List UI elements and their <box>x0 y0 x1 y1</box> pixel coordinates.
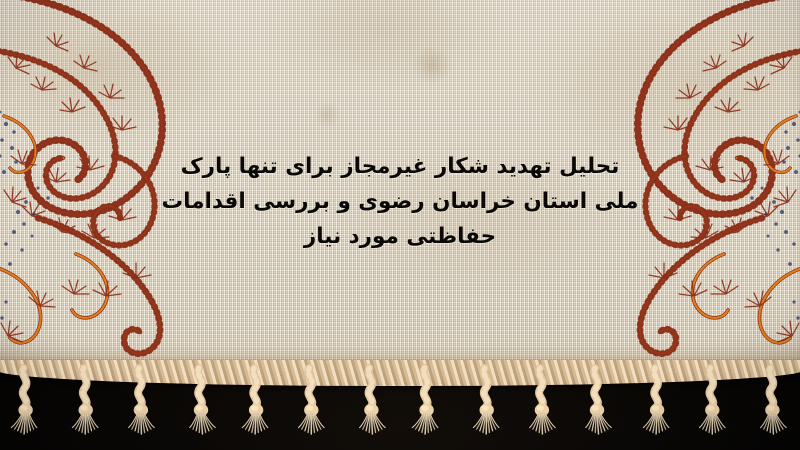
tassel-knot-highlight <box>767 405 774 411</box>
tassel-tuft <box>586 414 612 434</box>
tassel <box>530 368 556 434</box>
tassel-knot-highlight <box>81 405 88 411</box>
tassel-tuft <box>129 414 155 434</box>
tassel-knot-highlight <box>482 405 489 411</box>
tassel <box>643 368 669 434</box>
tassel-tuft <box>761 414 787 434</box>
title-line-1: تحلیل تهدید شکار غیرمجاز برای تنها پارک <box>0 149 800 184</box>
headline-title: تحلیل تهدید شکار غیرمجاز برای تنها پارک … <box>0 149 800 254</box>
tassel-knot-highlight <box>652 405 659 411</box>
tassel-knot-highlight <box>592 405 599 411</box>
tassel <box>761 368 787 434</box>
tassel <box>72 368 98 434</box>
title-line-2: ملی استان خراسان رضوی و بررسی اقدامات <box>0 184 800 219</box>
tassel-tuft <box>643 414 669 434</box>
tassel-tuft <box>299 414 325 434</box>
tassel-tuft <box>473 414 499 434</box>
tassel <box>299 368 325 434</box>
tassel-knot-highlight <box>21 405 28 411</box>
tassel-knot-highlight <box>136 405 143 411</box>
tassel-tuft <box>700 414 726 434</box>
tassel-tuft <box>242 414 268 434</box>
tassel-knot-highlight <box>422 405 429 411</box>
tassel-knot-highlight <box>306 405 313 411</box>
tassel-knot-highlight <box>366 405 373 411</box>
tassel-knot-highlight <box>707 405 714 411</box>
tassel <box>11 368 37 434</box>
title-line-3: حفاظتی مورد نیاز <box>0 219 800 254</box>
tassel <box>412 368 438 434</box>
tassel-tuft <box>190 414 216 434</box>
tassel <box>190 368 216 434</box>
tassel-knot-highlight <box>196 405 203 411</box>
tassel <box>700 368 726 434</box>
tassel-tuft <box>360 414 386 434</box>
tassel <box>129 368 155 434</box>
tassel-row <box>0 360 800 450</box>
tassel <box>360 368 386 434</box>
tassel-tuft <box>530 414 556 434</box>
tassel-tuft <box>412 414 438 434</box>
textile-banner: تحلیل تهدید شکار غیرمجاز برای تنها پارک … <box>0 0 800 450</box>
tassel-tuft <box>11 414 37 434</box>
tassel-tuft <box>72 414 98 434</box>
tassel <box>586 368 612 434</box>
tassel <box>473 368 499 434</box>
tassel-fringe <box>0 360 800 450</box>
tassel-knot-highlight <box>537 405 544 411</box>
tassel-knot-highlight <box>251 405 258 411</box>
tassel <box>242 368 268 434</box>
